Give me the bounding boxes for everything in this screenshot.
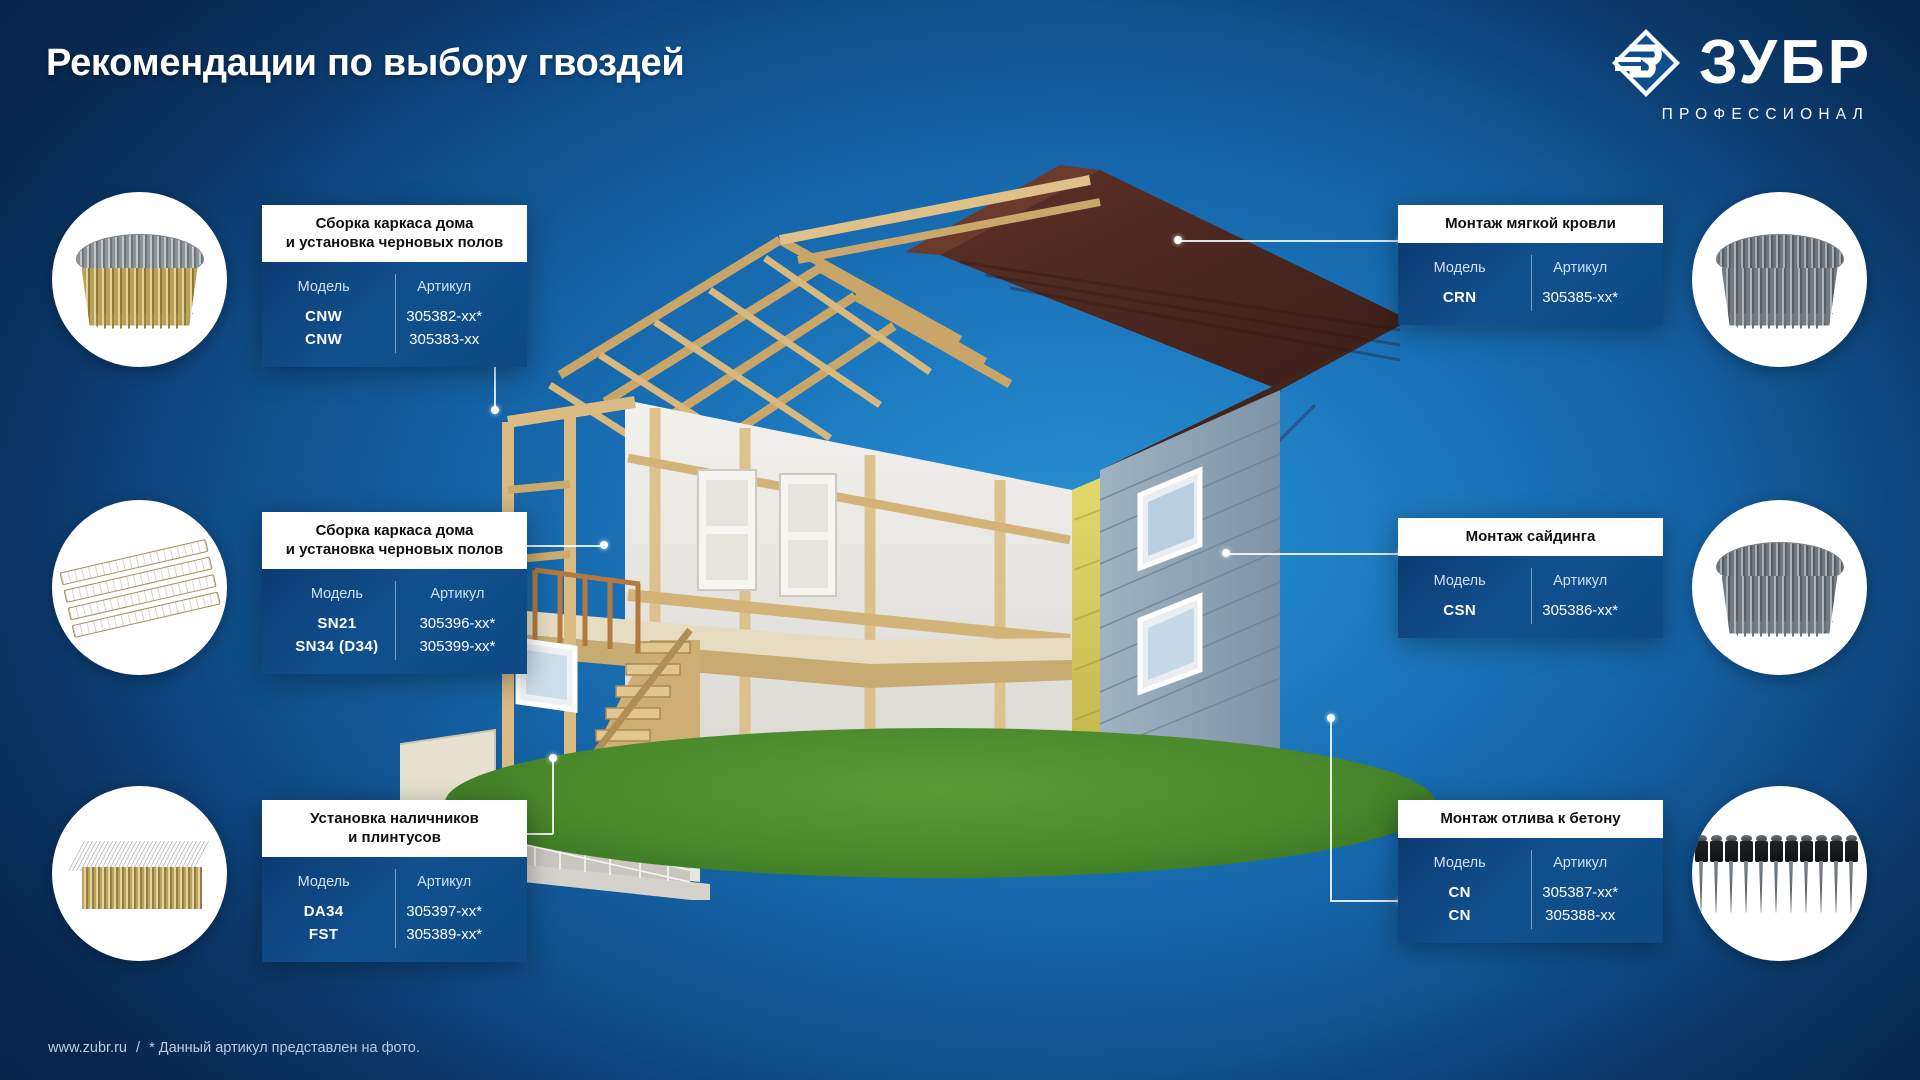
concrete-pin [1770,835,1783,913]
col-header-model: Модель [1410,851,1509,881]
footer: www.zubr.ru / * Данный артикул представл… [48,1040,425,1056]
col-header-article: Артикул [400,582,515,612]
card-body: Модель Артикул CNW 305382-xx* CNW 305383… [262,262,527,367]
col-header-model: Модель [1410,256,1509,286]
column-divider [395,581,397,660]
cell-model: CN [1410,881,1509,904]
card-body: Модель Артикул CN 305387-xx* CN 305388-x… [1398,838,1663,943]
footer-separator: / [136,1040,140,1056]
card-title-line1: Сборка каркаса дома [270,214,519,233]
concrete-pin [1830,835,1843,913]
cell-model: CRN [1410,286,1509,309]
zubr-mark-icon [1609,26,1683,100]
col-header-model: Модель [274,870,373,900]
card-body: Модель Артикул DA34 305397-xx* FST 30538… [262,857,527,962]
card-title-line1: Установка наличников [270,809,519,828]
card-title: Монтаж отлива к бетону [1398,800,1663,838]
product-image-strip-nails [52,500,227,675]
card-trim-baseboard[interactable]: Установка наличников и плинтусов Модель … [262,800,527,962]
cell-article: 305399-xx* [400,635,515,658]
col-header-model: Модель [1410,569,1509,599]
concrete-pin [1725,835,1738,913]
card-title: Установка наличников и плинтусов [262,800,527,857]
product-image-brad-nails [52,786,227,961]
cell-article: 305396-xx* [400,612,515,635]
card-frame-assembly-sn[interactable]: Сборка каркаса дома и установка черновых… [262,512,527,674]
card-title: Сборка каркаса дома и установка черновых… [262,205,527,262]
cell-model: CN [1410,904,1509,927]
product-image-coil-siding-nails [1692,500,1867,675]
card-title: Сборка каркаса дома и установка черновых… [262,512,527,569]
concrete-pin [1695,835,1708,913]
card-title-line1: Монтаж сайдинга [1406,527,1655,546]
card-title: Монтаж мягкой кровли [1398,205,1663,243]
column-divider [395,869,397,948]
card-title-line1: Монтаж мягкой кровли [1406,214,1655,233]
card-soft-roofing[interactable]: Монтаж мягкой кровли Модель Артикул CRN … [1398,205,1663,325]
logo-subtitle: ПРОФЕССИОНАЛ [1662,106,1869,124]
cell-model: CSN [1410,599,1509,622]
card-body: Модель Артикул CRN 305385-xx* [1398,243,1663,325]
card-siding-install[interactable]: Монтаж сайдинга Модель Артикул CSN 30538… [1398,518,1663,638]
column-divider [1531,850,1533,929]
logo-wordmark: ЗУБР [1699,34,1872,93]
product-image-coil-roofing-nails [1692,192,1867,367]
card-title: Монтаж сайдинга [1398,518,1663,556]
column-divider [1531,568,1533,624]
column-divider [395,274,397,353]
footer-site[interactable]: www.zubr.ru [48,1040,127,1056]
cell-model: FST [274,923,373,946]
concrete-pin [1800,835,1813,913]
page-title: Рекомендации по выбору гвоздей [46,42,684,85]
col-header-model: Модель [274,275,373,305]
card-title-line2: и установка черновых полов [270,540,519,559]
concrete-pin [1740,835,1753,913]
concrete-pin [1785,835,1798,913]
card-body: Модель Артикул CSN 305386-xx* [1398,556,1663,638]
column-divider [1531,255,1533,311]
cell-model: CNW [274,328,373,351]
card-title-line1: Монтаж отлива к бетону [1406,809,1655,828]
concrete-pin [1755,835,1768,913]
col-header-model: Модель [274,582,400,612]
card-frame-assembly-cnw[interactable]: Сборка каркаса дома и установка черновых… [262,205,527,367]
card-drip-to-concrete[interactable]: Монтаж отлива к бетону Модель Артикул CN… [1398,800,1663,943]
cell-model: SN34 (D34) [274,635,400,658]
concrete-pin [1845,835,1858,913]
cell-model: DA34 [274,900,373,923]
footer-note: * Данный артикул представлен на фото. [149,1040,420,1056]
brand-logo: ЗУБР ПРОФЕССИОНАЛ [1609,26,1872,124]
card-body: Модель Артикул SN21 305396-xx* SN34 (D34… [262,569,527,674]
product-image-coil-nails-bright [52,192,227,367]
cell-model: SN21 [274,612,400,635]
product-image-concrete-pins [1692,786,1867,961]
cell-model: CNW [274,305,373,328]
concrete-pin [1815,835,1828,913]
concrete-pin [1710,835,1723,913]
card-title-line2: и установка черновых полов [270,233,519,252]
card-title-line2: и плинтусов [270,828,519,847]
card-title-line1: Сборка каркаса дома [270,521,519,540]
